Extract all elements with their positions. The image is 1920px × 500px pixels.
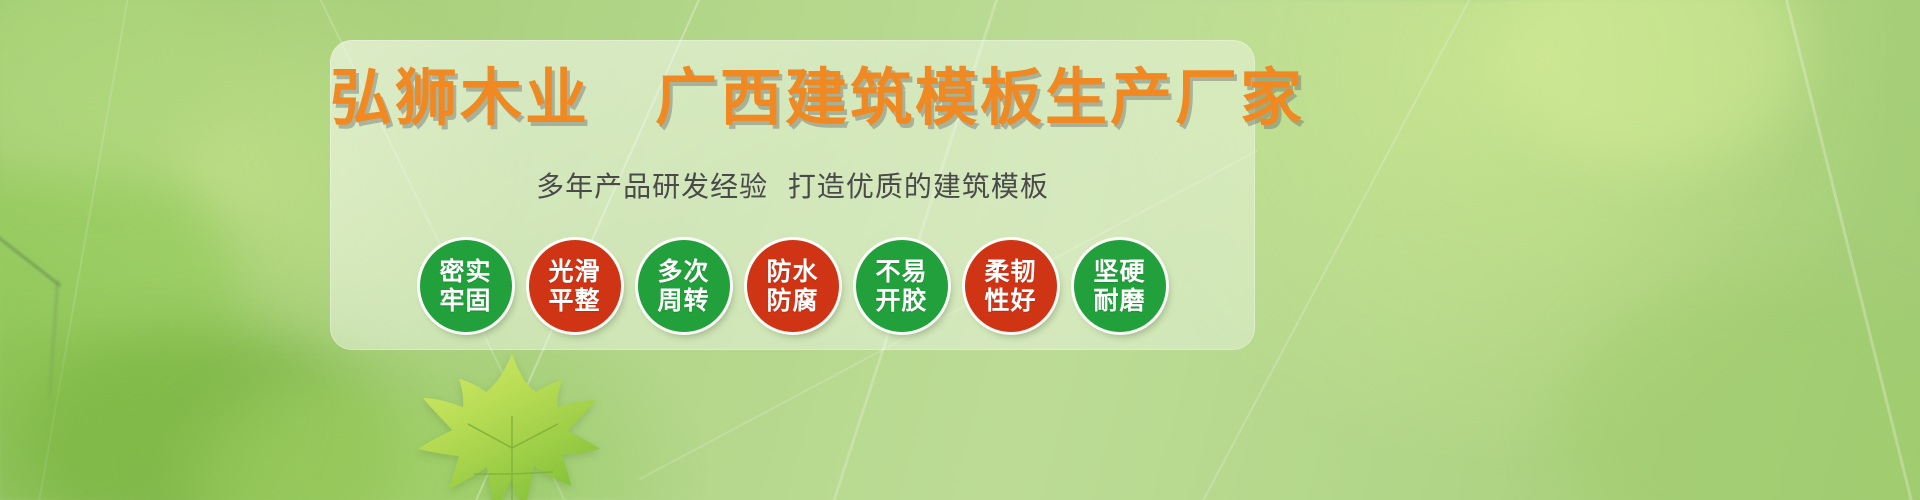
feature-badge-line2: 周转 xyxy=(657,286,709,315)
feature-badge-line2: 性好 xyxy=(984,286,1036,315)
feature-badge-line2: 开胶 xyxy=(875,286,927,315)
feature-badge-list: 密实牢固光滑平整多次周转防水防腐不易开胶柔韧性好坚硬耐磨 xyxy=(330,232,1255,340)
feature-badge-line2: 耐磨 xyxy=(1093,286,1145,315)
feature-badge-line1: 密实 xyxy=(439,257,491,286)
light-streak xyxy=(1780,0,1918,500)
feature-badge-line1: 不易 xyxy=(875,257,927,286)
feature-badge: 坚硬耐磨 xyxy=(1074,240,1166,332)
feature-badge: 多次周转 xyxy=(638,240,730,332)
feature-badge-line2: 平整 xyxy=(548,286,600,315)
feature-badge: 柔韧性好 xyxy=(965,240,1057,332)
feature-badge: 防水防腐 xyxy=(747,240,839,332)
maple-leaf-icon xyxy=(408,352,618,500)
feature-badge: 不易开胶 xyxy=(856,240,948,332)
feature-badge-line1: 防水 xyxy=(766,257,818,286)
feature-badge-line2: 牢固 xyxy=(439,286,491,315)
feature-badge: 密实牢固 xyxy=(420,240,512,332)
feature-badge-line2: 防腐 xyxy=(766,286,818,315)
banner-headline: 弘狮木业 广西建筑模板生产厂家 xyxy=(330,58,1255,138)
feature-badge-line1: 坚硬 xyxy=(1093,257,1145,286)
banner-subtitle: 多年产品研发经验 打造优质的建筑模板 xyxy=(330,165,1255,205)
feature-badge: 光滑平整 xyxy=(529,240,621,332)
feature-badge-line1: 光滑 xyxy=(548,257,600,286)
promo-banner: 弘狮木业 广西建筑模板生产厂家 多年产品研发经验 打造优质的建筑模板 密实牢固光… xyxy=(0,0,1920,500)
leaf-glow xyxy=(150,370,450,500)
feature-badge-line1: 柔韧 xyxy=(984,257,1036,286)
feature-badge-line1: 多次 xyxy=(657,257,709,286)
